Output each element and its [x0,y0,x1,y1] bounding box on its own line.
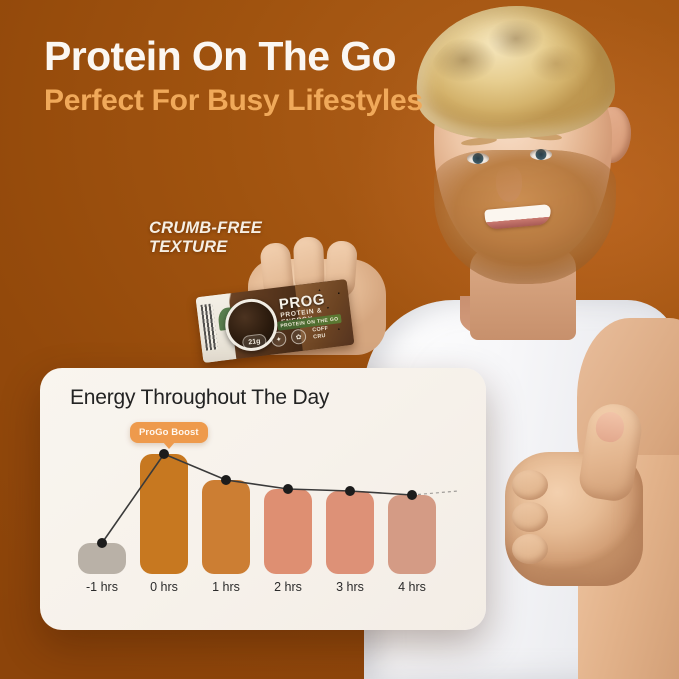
flavour-line-2: CRU [313,333,326,340]
model-eye-right [530,149,552,160]
chart-plot-area: -1 hrs0 hrs1 hrs2 hrs3 hrs4 hrs ProGo Bo… [74,432,462,600]
wheat-free-icon: ✦ [270,331,287,348]
energy-chart-card: Energy Throughout The Day -1 hrs0 hrs1 h… [40,368,486,630]
page-subtitle: Perfect For Busy Lifestyles [44,84,464,117]
chart-trend-line [74,432,462,600]
model-knuckle [512,534,548,564]
model-knuckle [512,502,548,532]
chart-line-path [102,454,412,543]
chart-data-point [283,484,293,494]
hero-text-block: Protein On The Go Perfect For Busy Lifes… [44,34,464,117]
feature-callout-label: CRUMB-FREE TEXTURE [149,219,319,257]
chart-data-point [221,475,231,485]
chart-title: Energy Throughout The Day [70,386,329,410]
progo-boost-badge[interactable]: ProGo Boost [130,422,208,443]
model-eye-left [467,153,489,164]
page-title: Protein On The Go [44,34,464,78]
chart-data-point [407,490,417,500]
model-knuckle [512,470,548,500]
chart-data-point [159,449,169,459]
model-nose [496,166,522,202]
chart-line-tail [412,491,458,495]
ad-creative: Protein On The Go Perfect For Busy Lifes… [0,0,679,679]
chart-data-point [97,538,107,548]
chart-data-point [345,486,355,496]
